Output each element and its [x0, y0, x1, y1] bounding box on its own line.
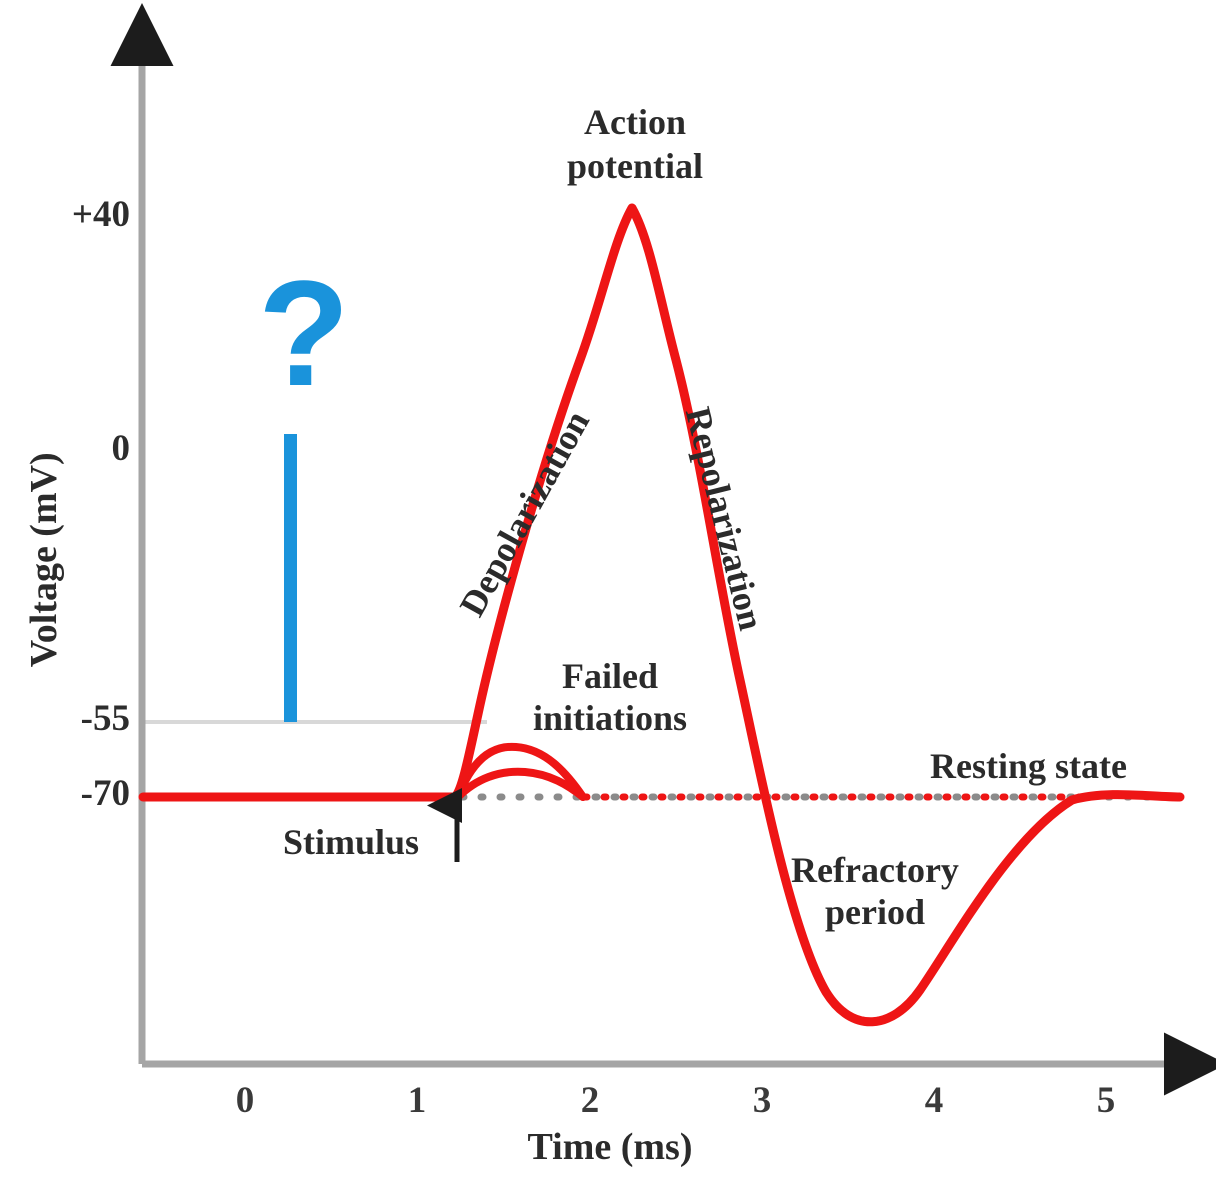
question-mark-annotation: ? — [258, 258, 350, 408]
y-tick-minus70: -70 — [20, 775, 130, 813]
action-potential-label-line2: potential — [510, 148, 760, 185]
resting-state-label: Resting state — [930, 748, 1210, 785]
failed-initiations-label-line2: initiations — [490, 700, 730, 737]
x-tick-4: 4 — [894, 1082, 974, 1120]
y-tick-minus55: -55 — [20, 700, 130, 738]
action-potential-label-line1: Action — [510, 104, 760, 141]
refractory-period-label-line1: Refractory — [760, 852, 990, 889]
x-tick-5: 5 — [1066, 1082, 1146, 1120]
failed-initiations-label-line1: Failed — [500, 658, 720, 695]
action-potential-figure: +40 0 -55 -70 Voltage (mV) 0 1 2 3 4 5 T… — [0, 0, 1216, 1200]
refractory-period-label-line2: period — [760, 894, 990, 931]
x-axis-title: Time (ms) — [490, 1128, 730, 1168]
x-tick-3: 3 — [722, 1082, 802, 1120]
x-tick-2: 2 — [550, 1082, 630, 1120]
y-tick-plus40: +40 — [20, 196, 130, 234]
y-axis-title: Voltage (mV) — [25, 415, 65, 705]
stimulus-label: Stimulus — [283, 824, 463, 861]
question-mark-pointer-line — [284, 434, 297, 722]
x-tick-1: 1 — [377, 1082, 457, 1120]
x-tick-0: 0 — [205, 1082, 285, 1120]
